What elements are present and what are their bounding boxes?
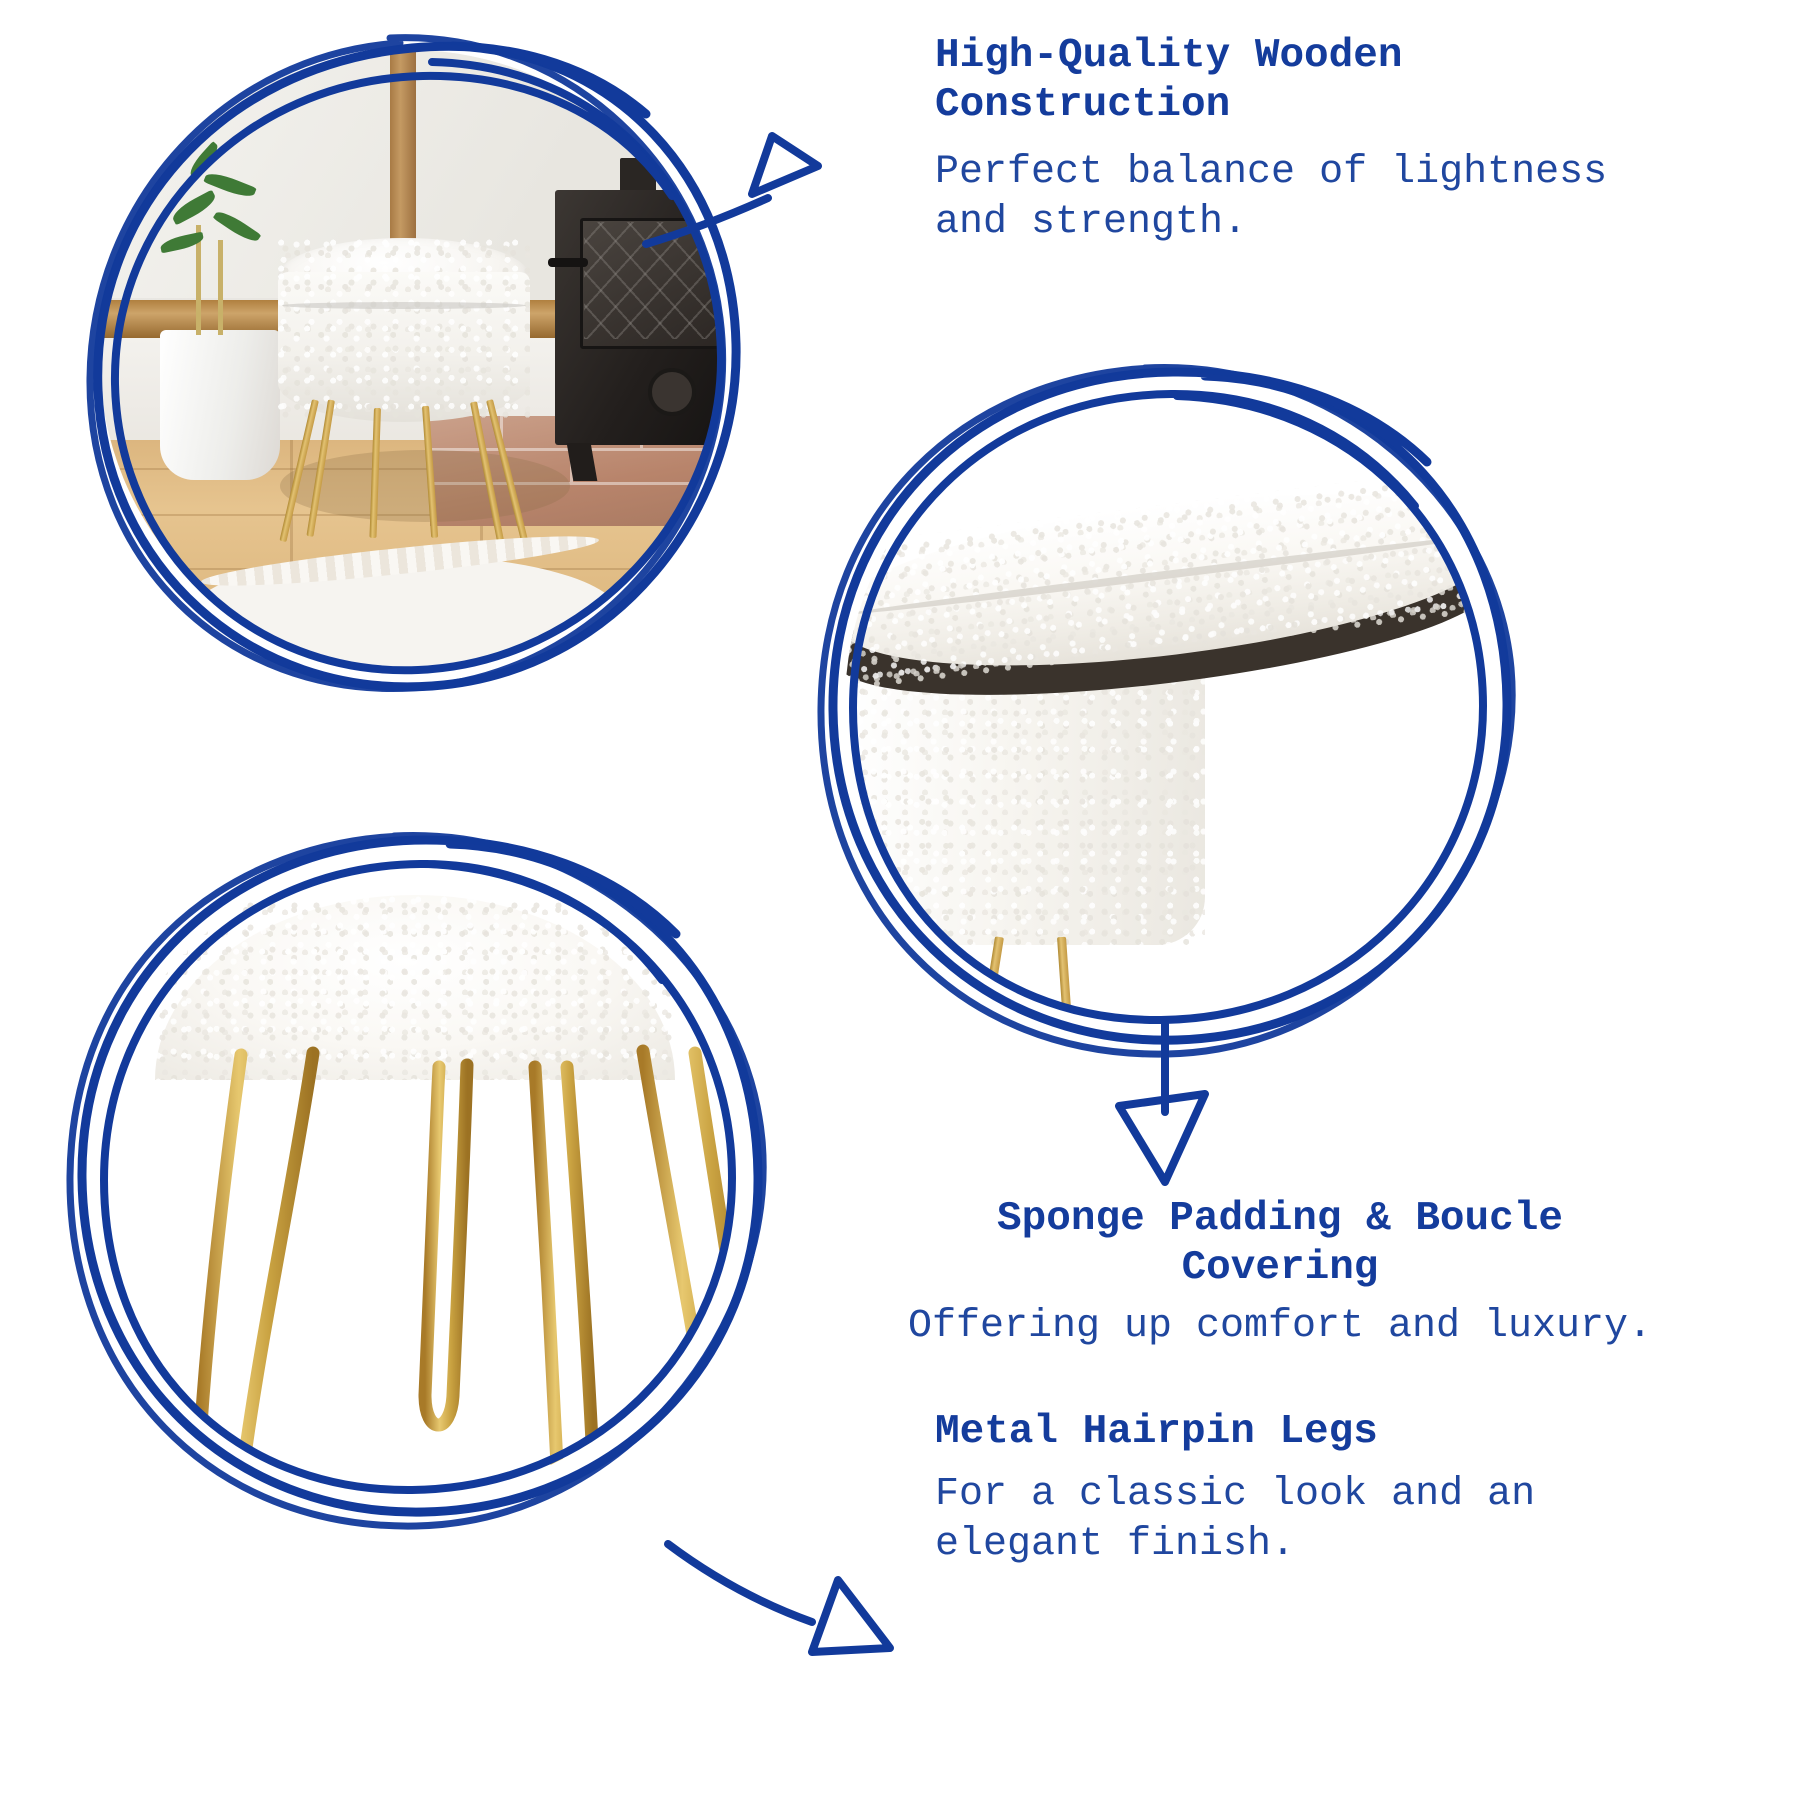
heading-line: High-Quality Wooden	[935, 32, 1635, 81]
body-line: elegant finish.	[935, 1520, 1695, 1570]
lid-open-art	[845, 385, 1485, 1025]
feature-heading-hairpin-legs: Metal Hairpin Legs	[935, 1408, 1695, 1457]
hairpin-legs-photo	[95, 855, 735, 1495]
heading-line: Construction	[935, 81, 1635, 130]
infographic-canvas: High-Quality Wooden Construction Perfect…	[0, 0, 1800, 1800]
gold-leg-tip	[981, 936, 1004, 1025]
room-scene-art	[100, 50, 720, 670]
gold-hairpin-legs-group	[95, 855, 735, 1495]
stove-handle	[548, 258, 588, 267]
heading-line: Covering	[820, 1244, 1740, 1293]
feature-body-hairpin-legs: For a classic look and an elegant finish…	[935, 1470, 1695, 1570]
heading-line: Sponge Padding & Boucle	[820, 1195, 1740, 1244]
gold-leg-tip	[1057, 937, 1072, 1025]
stove-door-grid	[584, 222, 720, 339]
body-line: For a classic look and an	[935, 1470, 1695, 1520]
feature-heading-wooden-construction: High-Quality Wooden Construction	[935, 32, 1635, 130]
stool-in-room-photo	[100, 50, 720, 670]
arrow-down-icon	[1095, 1020, 1235, 1190]
feature-heading-sponge-padding: Sponge Padding & Boucle Covering	[820, 1195, 1740, 1293]
stool-lid-seam	[282, 302, 526, 309]
feature-body-sponge-padding: Offering up comfort and luxury.	[820, 1302, 1740, 1352]
body-line: Perfect balance of lightness	[935, 148, 1695, 198]
hairpin-legs-art	[95, 855, 735, 1495]
stove-knob	[648, 368, 696, 416]
body-line: Offering up comfort and luxury.	[820, 1302, 1740, 1352]
feature-body-wooden-construction: Perfect balance of lightness and strengt…	[935, 148, 1695, 248]
body-line: and strength.	[935, 198, 1695, 248]
heading-line: Metal Hairpin Legs	[935, 1408, 1695, 1457]
bamboo-stalk	[218, 240, 223, 335]
lid-open-photo	[845, 385, 1485, 1025]
arrow-right-icon	[660, 1540, 900, 1700]
plant-pot	[160, 330, 280, 480]
